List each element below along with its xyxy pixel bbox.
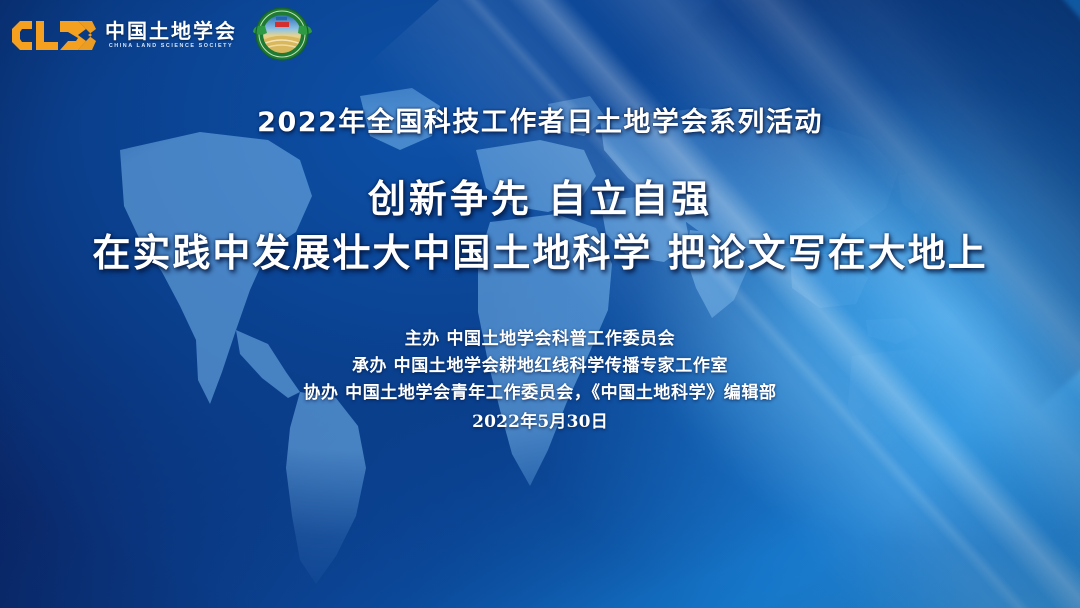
workroom-badge-icon: [251, 6, 313, 64]
clss-english-name: CHINA LAND SCIENCE SOCIETY: [109, 44, 233, 49]
headline-line-2: 在实践中发展壮大中国土地科学 把论文写在大地上: [0, 222, 1080, 277]
event-date: 2022年5月30日: [0, 409, 1080, 436]
event-series-kicker: 2022年全国科技工作者日土地学会系列活动: [0, 100, 1080, 139]
event-banner: 中国土地学会 CHINA LAND SCIENCE SOCIETY: [0, 0, 1080, 608]
organizer-line: 主办 中国土地学会科普工作委员会: [0, 326, 1080, 353]
clss-chinese-name: 中国土地学会: [105, 21, 237, 41]
clss-logo: 中国土地学会 CHINA LAND SCIENCE SOCIETY: [12, 18, 237, 52]
banner-content: 2022年全国科技工作者日土地学会系列活动 创新争先 自立自强 在实践中发展壮大…: [0, 0, 1080, 608]
coorganizer-line: 协办 中国土地学会青年工作委员会，《中国土地科学》编辑部: [0, 380, 1080, 407]
headline-line-1: 创新争先 自立自强: [0, 168, 1080, 223]
credits-block: 主办 中国土地学会科普工作委员会 承办 中国土地学会耕地红线科学传播专家工作室 …: [0, 326, 1080, 436]
clss-acronym-icon: [12, 18, 96, 52]
logo-row: 中国土地学会 CHINA LAND SCIENCE SOCIETY: [12, 6, 313, 64]
host-line: 承办 中国土地学会耕地红线科学传播专家工作室: [0, 353, 1080, 380]
